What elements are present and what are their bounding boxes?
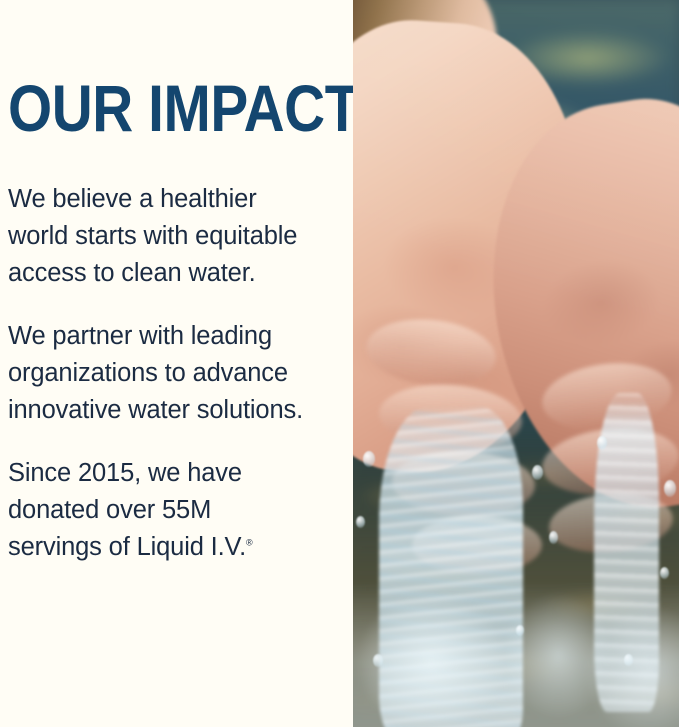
donations-text: Since 2015, we have donated over 55M ser… — [8, 459, 246, 561]
registered-trademark-icon: ® — [246, 537, 253, 547]
water-droplet — [363, 451, 375, 467]
paragraph-donations: Since 2015, we have donated over 55M ser… — [8, 455, 307, 566]
body-copy: We believe a healthier world starts with… — [8, 181, 307, 566]
photo-panel — [353, 0, 679, 727]
paragraph-mission: We believe a healthier world starts with… — [8, 181, 307, 292]
water-droplet — [549, 531, 558, 544]
impact-panel: OUR IMPACT We believe a healthier world … — [0, 0, 679, 727]
water-droplet — [664, 480, 676, 497]
paragraph-partnerships: We partner with leading organizations to… — [8, 318, 307, 429]
page-title: OUR IMPACT — [8, 82, 265, 135]
water-splash — [353, 582, 679, 727]
text-panel: OUR IMPACT We believe a healthier world … — [0, 0, 353, 727]
hands-with-water-photo — [353, 0, 679, 727]
